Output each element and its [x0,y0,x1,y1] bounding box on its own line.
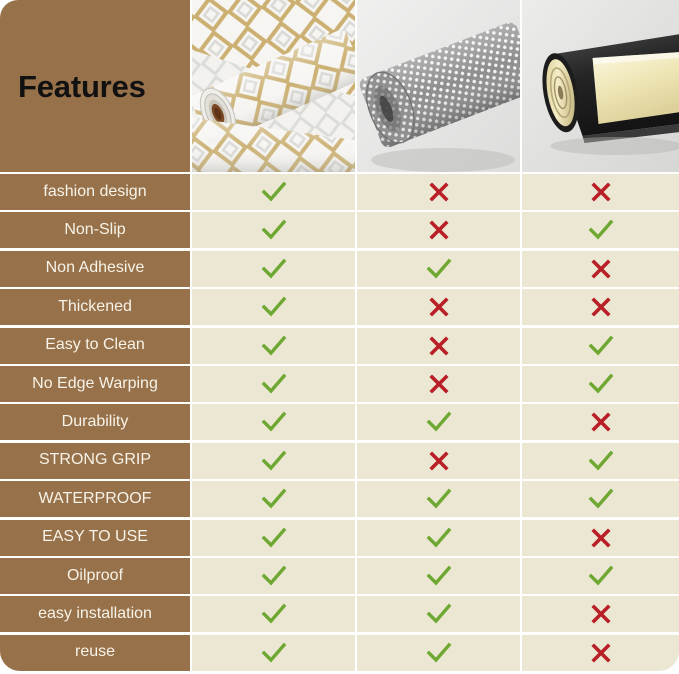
check-icon [260,642,288,664]
cross-icon [590,603,612,625]
check-icon [587,565,615,587]
feature-label-cell: No Edge Warping [0,366,190,402]
cross-icon [428,219,450,241]
mark-cell-product-3 [522,443,679,479]
mark-cell-product-3 [522,520,679,556]
mark-cell-product-1 [192,404,355,440]
check-icon [260,411,288,433]
product-image-1 [192,0,355,172]
cross-icon [590,642,612,664]
page-title: Features [18,71,146,102]
mark-cell-product-2 [357,404,520,440]
check-icon [260,181,288,203]
cross-icon [428,296,450,318]
check-icon [587,373,615,395]
mark-cell-product-2 [357,212,520,248]
feature-label: Non-Slip [64,222,125,239]
mark-cell-product-2 [357,251,520,287]
feature-label: EASY TO USE [42,529,148,546]
feature-label-cell: WATERPROOF [0,481,190,517]
feature-label-cell: Durability [0,404,190,440]
feature-label-cell: Non-Slip [0,212,190,248]
mark-cell-product-1 [192,328,355,364]
table-row: STRONG GRIP [0,443,679,481]
product-comparison-table: Features [0,0,679,674]
mark-cell-product-3 [522,289,679,325]
check-icon [260,527,288,549]
mark-cell-product-2 [357,481,520,517]
check-icon [260,335,288,357]
check-icon [260,603,288,625]
feature-label: No Edge Warping [32,376,158,393]
mark-cell-product-2 [357,520,520,556]
table-row: Thickened [0,289,679,327]
comparison-rows: fashion design Non-Slip [0,174,679,674]
table-row: No Edge Warping [0,366,679,404]
feature-label: Easy to Clean [45,337,145,354]
mark-cell-product-3 [522,251,679,287]
check-icon [260,565,288,587]
table-header-row: Features [0,0,679,172]
table-row: EASY TO USE [0,520,679,558]
feature-label-cell: fashion design [0,174,190,210]
feature-label-cell: easy installation [0,596,190,632]
feature-label: WATERPROOF [39,491,152,508]
mark-cell-product-1 [192,481,355,517]
mark-cell-product-2 [357,558,520,594]
mark-cell-product-3 [522,635,679,671]
cross-icon [590,527,612,549]
feature-label: STRONG GRIP [39,452,151,469]
cross-icon [590,181,612,203]
check-icon [425,258,453,280]
black-adhesive-backed-liner-roll-icon [522,0,679,172]
table-row: reuse [0,635,679,673]
product-image-3 [522,0,679,172]
feature-label-cell: Oilproof [0,558,190,594]
cross-icon [428,373,450,395]
mark-cell-product-3 [522,481,679,517]
feature-label: easy installation [38,606,152,623]
check-icon [425,603,453,625]
check-icon [260,258,288,280]
mark-cell-product-1 [192,443,355,479]
feature-label-cell: Non Adhesive [0,251,190,287]
mark-cell-product-3 [522,328,679,364]
mark-cell-product-1 [192,174,355,210]
check-icon [260,296,288,318]
mark-cell-product-1 [192,366,355,402]
feature-label-cell: reuse [0,635,190,671]
feature-label: Oilproof [67,568,123,585]
mark-cell-product-3 [522,366,679,402]
mark-cell-product-2 [357,174,520,210]
mark-cell-product-3 [522,404,679,440]
gold-diamond-pattern-liner-roll-icon [192,0,355,172]
mark-cell-product-2 [357,328,520,364]
mark-cell-product-1 [192,251,355,287]
table-row: fashion design [0,174,679,212]
grey-mesh-nonslip-liner-roll-icon [357,0,520,172]
mark-cell-product-3 [522,558,679,594]
mark-cell-product-3 [522,212,679,248]
table-row: Non Adhesive [0,251,679,289]
mark-cell-product-1 [192,635,355,671]
check-icon [425,488,453,510]
table-row: WATERPROOF [0,481,679,519]
mark-cell-product-1 [192,520,355,556]
table-row: Easy to Clean [0,328,679,366]
mark-cell-product-2 [357,289,520,325]
feature-label-cell: STRONG GRIP [0,443,190,479]
check-icon [587,219,615,241]
feature-label-cell: Thickened [0,289,190,325]
check-icon [260,488,288,510]
mark-cell-product-1 [192,289,355,325]
check-icon [260,373,288,395]
cross-icon [428,450,450,472]
mark-cell-product-1 [192,596,355,632]
check-icon [425,642,453,664]
check-icon [587,488,615,510]
check-icon [425,527,453,549]
check-icon [260,450,288,472]
table-row: Durability [0,404,679,442]
cross-icon [428,181,450,203]
cross-icon [428,335,450,357]
cross-icon [590,258,612,280]
feature-label: reuse [75,644,115,661]
mark-cell-product-1 [192,558,355,594]
feature-label: Durability [62,414,129,431]
product-image-2 [357,0,520,172]
mark-cell-product-3 [522,596,679,632]
feature-label-cell: Easy to Clean [0,328,190,364]
feature-label: Non Adhesive [46,260,145,277]
check-icon [425,411,453,433]
check-icon [587,335,615,357]
mark-cell-product-2 [357,635,520,671]
table-row: Oilproof [0,558,679,596]
mark-cell-product-2 [357,596,520,632]
mark-cell-product-2 [357,366,520,402]
check-icon [260,219,288,241]
feature-label: fashion design [43,184,146,201]
mark-cell-product-2 [357,443,520,479]
check-icon [425,565,453,587]
feature-label-cell: EASY TO USE [0,520,190,556]
check-icon [587,450,615,472]
features-header-cell: Features [0,0,190,172]
feature-label: Thickened [58,299,132,316]
table-row: Non-Slip [0,212,679,250]
cross-icon [590,411,612,433]
mark-cell-product-3 [522,174,679,210]
mark-cell-product-1 [192,212,355,248]
table-row: easy installation [0,596,679,634]
cross-icon [590,296,612,318]
